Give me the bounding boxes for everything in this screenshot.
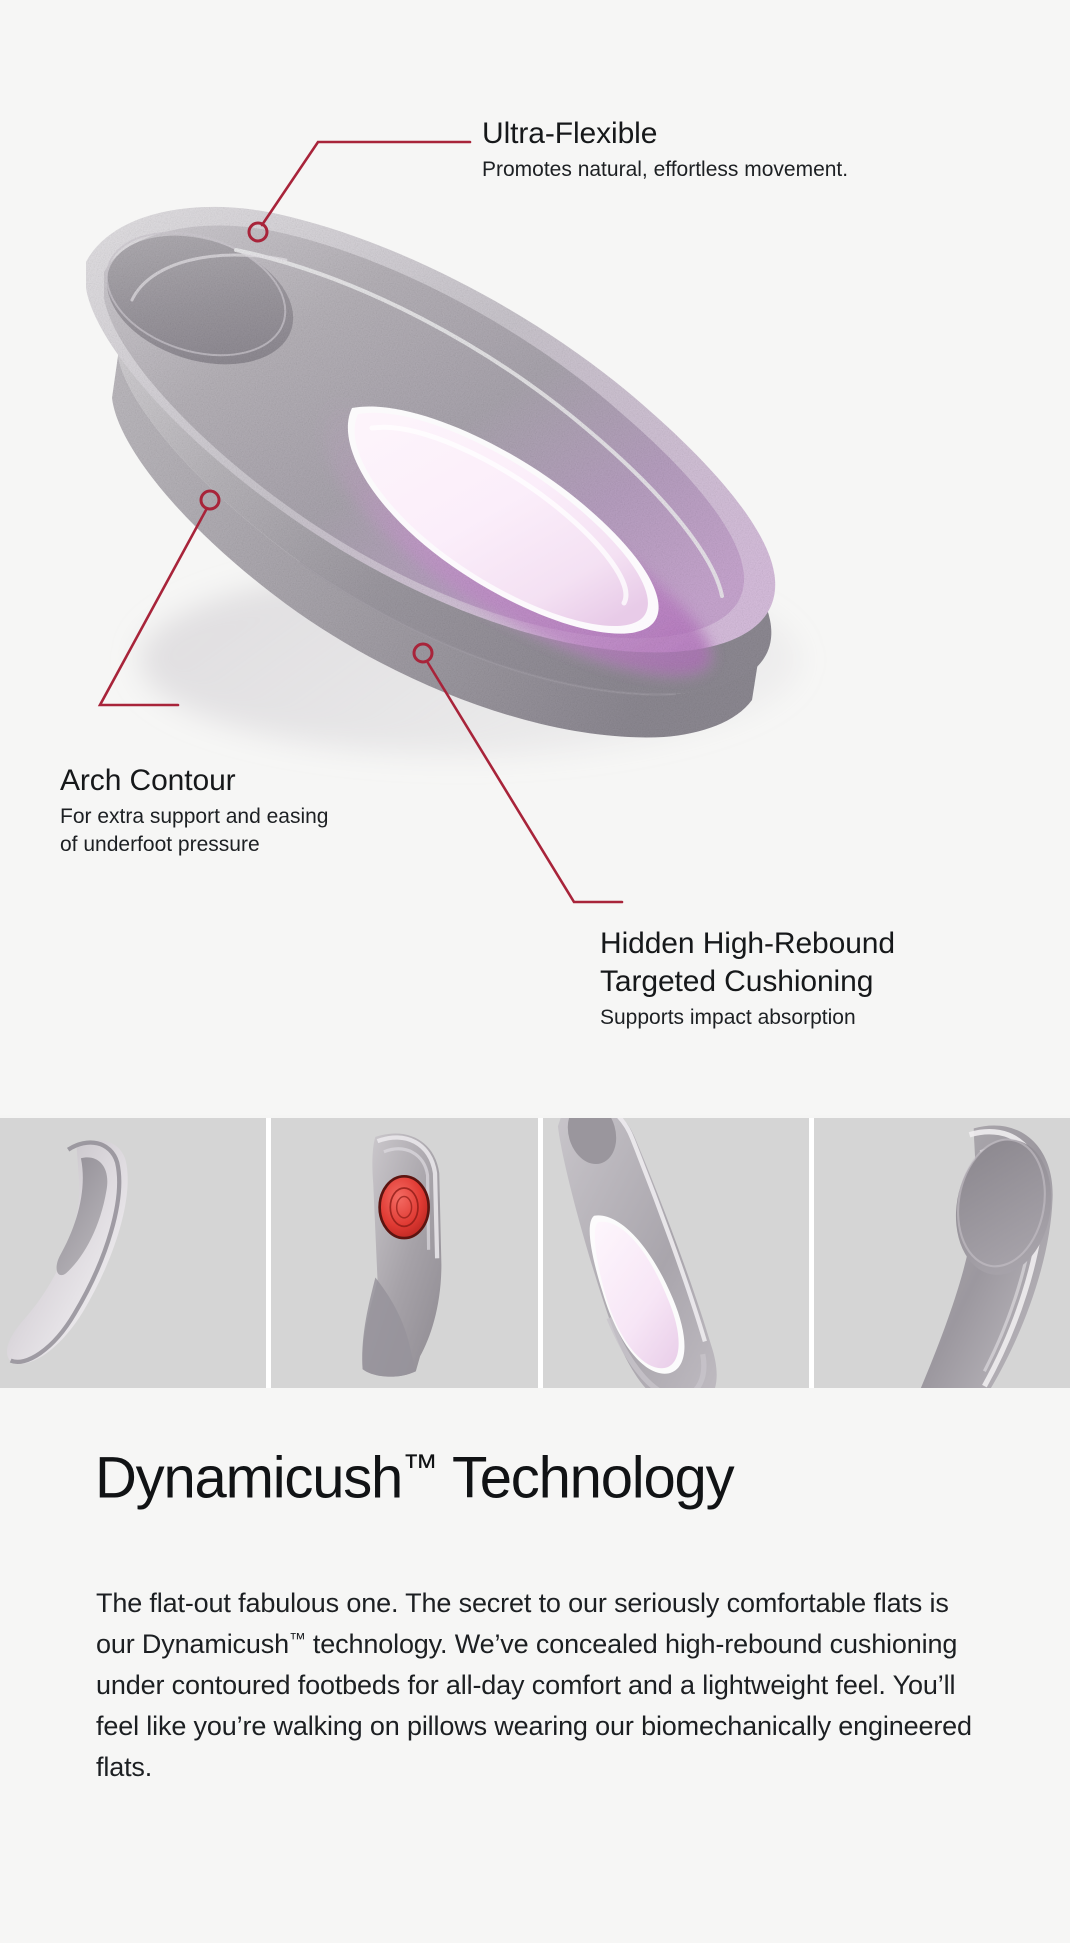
hero-diagram-section: Ultra-Flexible Promotes natural, effortl…	[0, 0, 1070, 1115]
callout-ultra-flexible-title: Ultra-Flexible	[482, 115, 848, 153]
callout-hidden-cushioning-title-line1: Hidden High-Rebound	[600, 925, 960, 963]
callout-ultra-flexible-subtitle: Promotes natural, effortless movement.	[482, 156, 848, 184]
callout-arch-contour-subtitle-line2: of underfoot pressure	[60, 831, 329, 859]
callout-hidden-cushioning-subtitle: Supports impact absorption	[600, 1004, 960, 1032]
thumbnail-underside-cushion[interactable]	[543, 1118, 809, 1388]
callout-arch-contour-subtitle-line1: For extra support and easing	[60, 803, 329, 831]
page-title: Dynamicush™ Technology	[95, 1448, 733, 1510]
technology-description: The flat-out fabulous one. The secret to…	[96, 1583, 976, 1788]
callout-arch-contour-title: Arch Contour	[60, 762, 329, 800]
thumbnail-heel-pod[interactable]	[271, 1118, 537, 1388]
thumbnail-heel-detail-image	[814, 1118, 1070, 1388]
thumbnail-strip	[0, 1118, 1070, 1388]
thumbnail-heel-pod-image	[271, 1118, 537, 1388]
page-title-rest: Technology	[438, 1446, 733, 1511]
callout-arch-contour: Arch Contour For extra support and easin…	[60, 762, 329, 859]
description-trademark-symbol: ™	[289, 1630, 306, 1649]
thumbnail-heel-detail[interactable]	[814, 1118, 1070, 1388]
callout-hidden-cushioning-title-line2: Targeted Cushioning	[600, 963, 960, 1001]
product-technology-page: Ultra-Flexible Promotes natural, effortl…	[0, 0, 1070, 1943]
callout-hidden-cushioning: Hidden High-Rebound Targeted Cushioning …	[600, 925, 960, 1032]
callout-ultra-flexible: Ultra-Flexible Promotes natural, effortl…	[482, 115, 848, 184]
technology-copy-section: Dynamicush™ Technology The flat-out fabu…	[0, 1388, 1070, 1943]
page-title-brand: Dynamicush	[95, 1446, 402, 1511]
trademark-symbol: ™	[402, 1446, 438, 1487]
thumbnail-underside-cushion-image	[543, 1118, 809, 1388]
thumbnail-side-profile[interactable]	[0, 1118, 266, 1388]
thumbnail-side-profile-image	[0, 1118, 266, 1388]
